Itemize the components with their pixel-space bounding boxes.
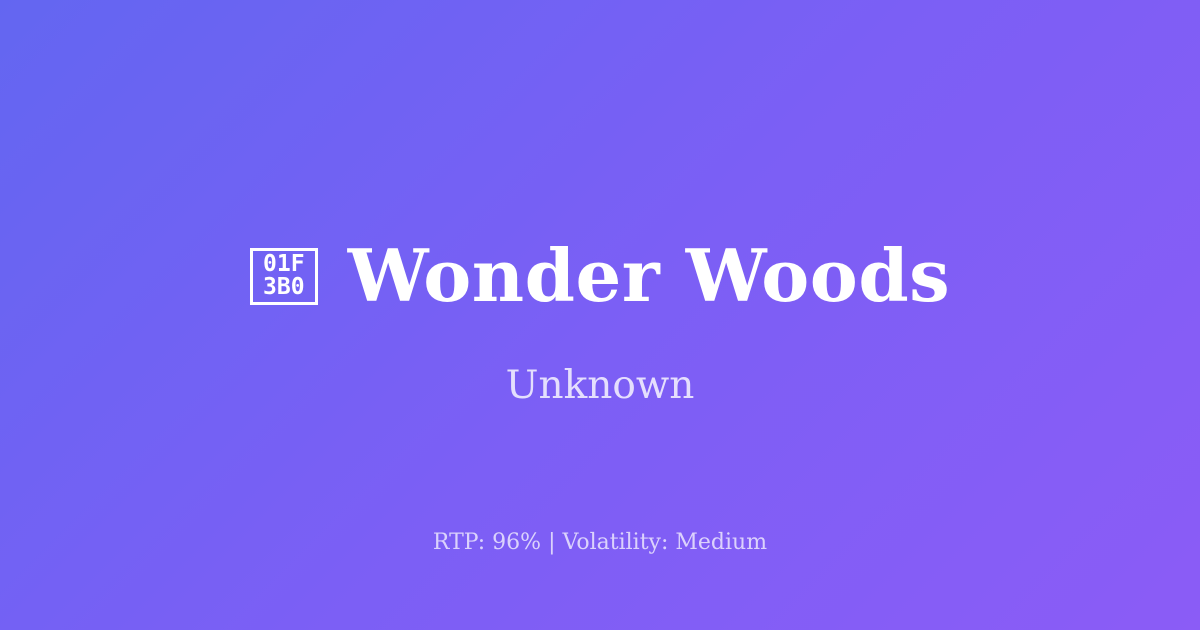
game-stats: RTP: 96% | Volatility: Medium (0, 528, 1200, 558)
page-title: Wonder Woods (348, 237, 950, 315)
slot-machine-emoji-icon: 01F 3B0 (250, 248, 318, 305)
tofu-codepoint-bottom: 3B0 (263, 276, 305, 299)
title-row: 01F 3B0 Wonder Woods (0, 230, 1200, 322)
provider-label: Unknown (0, 362, 1200, 410)
tofu-codepoint-top: 01F (263, 253, 305, 276)
og-preview-card: 01F 3B0 Wonder Woods Unknown RTP: 96% | … (0, 0, 1200, 630)
